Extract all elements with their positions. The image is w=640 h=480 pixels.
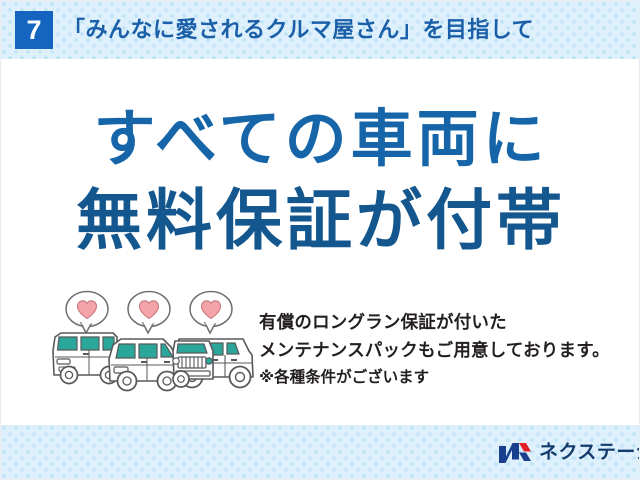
note-text-block: 有償のロングラン保証が付いた メンテナンスパックもご用意しております。 ※各種条…	[259, 308, 631, 392]
brand-logo: ネクステージ	[498, 439, 640, 467]
car-kei-box	[53, 333, 118, 384]
nextage-n-mark-icon	[498, 441, 532, 465]
promo-poster: 7 「みんなに愛されるクルマ屋さん」を目指して すべての車両に 無料保証が付帯	[0, 0, 640, 480]
note-line-3: ※各種条件がございます	[259, 364, 631, 392]
cars-illustration-svg	[47, 289, 257, 401]
heart-bubble-left	[66, 292, 108, 334]
cars-illustration	[47, 289, 257, 401]
car-minivan	[109, 339, 178, 391]
heart-bubble-right	[190, 292, 232, 334]
brand-name: ネクステージ	[539, 441, 640, 465]
note-line-1: 有償のロングラン保証が付いた	[259, 308, 631, 336]
headline-line-2: 無料保証が付帯	[1, 183, 640, 257]
header-number-badge: 7	[15, 11, 53, 49]
heart-bubble-center	[128, 292, 170, 334]
headline-line-1: すべての車両に	[1, 105, 640, 175]
note-line-2: メンテナンスパックもご用意しております。	[259, 336, 631, 364]
page-title: 「みんなに愛されるクルマ屋さん」を目指して	[63, 12, 534, 48]
